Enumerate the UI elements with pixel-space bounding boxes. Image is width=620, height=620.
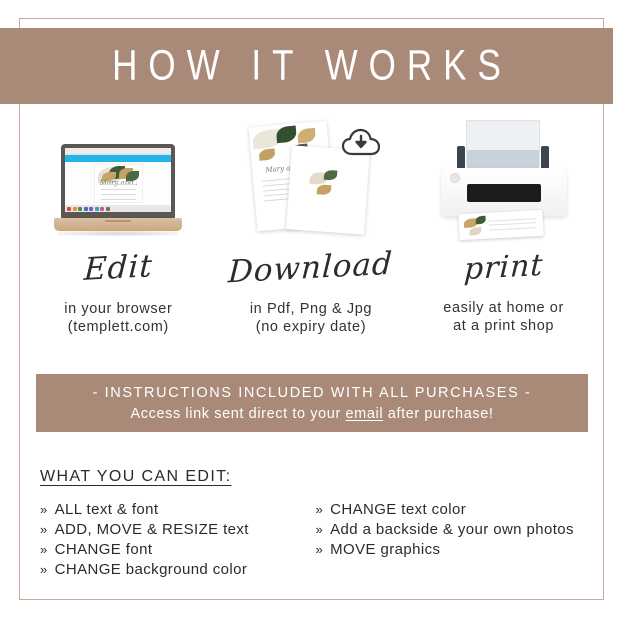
laptop-base [54,218,182,231]
browser-taskbar [65,205,171,212]
printer-paper-guides [457,146,549,170]
chevron-bullet-icon: » [40,560,48,580]
laptop-screen: Mary and Sam [65,148,171,212]
printer-illustration [407,118,600,240]
how-it-works-infographic: HOW IT WORKS [0,0,620,620]
list-item: » CHANGE text color [316,500,586,520]
invitation-cards-icon: Mary and Sam [245,122,377,240]
list-item: » MOVE graphics [316,540,586,560]
chevron-bullet-icon: » [316,540,324,560]
subline-after: after purchase! [383,406,493,422]
step-download: Mary and Sam [215,118,408,348]
laptop-illustration: Mary and Sam [22,118,215,240]
chevron-bullet-icon: » [40,540,48,560]
list-item-label: ADD, MOVE & RESIZE text [55,520,249,540]
step-label-print: print [463,248,544,287]
list-item: » Add a backside & your own photos [316,520,586,540]
caption-line-1: in your browser [64,300,172,318]
caption-line-2: (templett.com) [64,318,172,336]
list-item-label: CHANGE text color [330,500,466,520]
edit-bullets-right: » CHANGE text color » Add a backside & y… [310,500,586,580]
step-edit: Mary and Sam [22,118,215,348]
step-label-download: Download [228,246,395,291]
laptop-lid: Mary and Sam [61,144,175,218]
caption-line-2: (no expiry date) [250,318,372,336]
steps-row: Mary and Sam [22,118,600,348]
step-print: print easily at home or at a print shop [407,118,600,348]
instructions-headline: - INSTRUCTIONS INCLUDED WITH ALL PURCHAS… [93,385,532,401]
printer-body [441,168,567,216]
instructions-subline: Access link sent direct to your email af… [130,406,493,422]
cards-illustration: Mary and Sam [215,118,408,240]
list-item-label: CHANGE font [55,540,153,560]
chevron-bullet-icon: » [316,500,324,520]
printed-card [458,210,543,240]
list-item: » ALL text & font [40,500,310,520]
printer-icon [433,120,575,240]
laptop-shadow [58,231,178,236]
chevron-bullet-icon: » [316,520,324,540]
caption-line-1: easily at home or [443,299,564,317]
printer-output-slot [467,184,541,202]
step-caption-download: in Pdf, Png & Jpg (no expiry date) [250,300,372,336]
list-item-label: ALL text & font [55,500,159,520]
edit-bullet-columns: » ALL text & font » ADD, MOVE & RESIZE t… [40,500,585,580]
step-caption-edit: in your browser (templett.com) [64,300,172,336]
caption-line-1: in Pdf, Png & Jpg [250,300,372,318]
instructions-banner: - INSTRUCTIONS INCLUDED WITH ALL PURCHAS… [36,374,588,432]
step-caption-print: easily at home or at a print shop [443,299,564,335]
laptop-icon: Mary and Sam [54,144,182,240]
list-item: » CHANGE background color [40,560,310,580]
step-label-edit: Edit [83,248,154,288]
list-item: » CHANGE font [40,540,310,560]
list-item-label: MOVE graphics [330,540,440,560]
header-banner: HOW IT WORKS [0,28,613,104]
edit-bullets-left: » ALL text & font » ADD, MOVE & RESIZE t… [40,500,310,580]
caption-line-2: at a print shop [443,317,564,335]
email-link[interactable]: email [346,406,384,422]
list-item-label: CHANGE background color [55,560,248,580]
subline-before: Access link sent direct to your [130,406,345,422]
invitation-card-front [286,145,370,234]
cloud-download-icon [341,128,381,158]
edit-section-title: WHAT YOU CAN EDIT: [40,468,231,486]
list-item-label: Add a backside & your own photos [330,520,574,540]
printer-power-button [450,173,460,183]
invitation-preview: Mary and Sam [94,164,143,203]
page-title: HOW IT WORKS [101,42,512,91]
browser-canvas: Mary and Sam [65,162,171,205]
chevron-bullet-icon: » [40,500,48,520]
browser-url-bar [65,148,171,155]
chevron-bullet-icon: » [40,520,48,540]
list-item: » ADD, MOVE & RESIZE text [40,520,310,540]
